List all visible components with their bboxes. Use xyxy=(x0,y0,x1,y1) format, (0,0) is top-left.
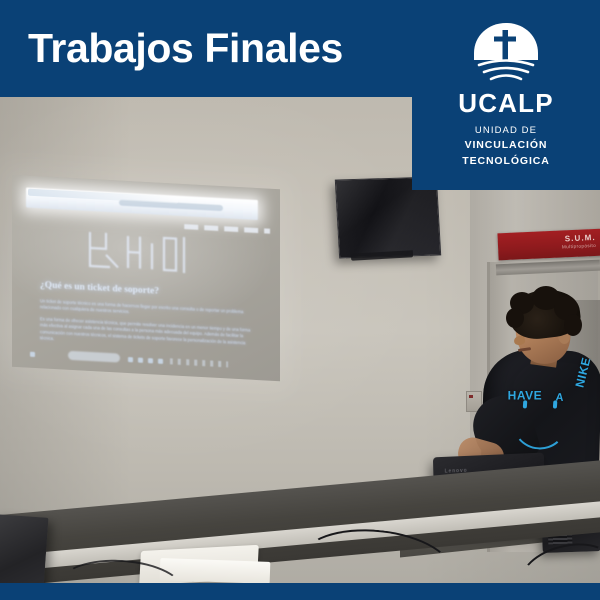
sum-sign-main-text: S.U.M. xyxy=(565,233,596,243)
student-hair-curl xyxy=(564,314,582,336)
taskbar-app-icon xyxy=(128,357,133,362)
smiley-eye-right xyxy=(553,400,558,408)
smiley-eye-left xyxy=(523,400,528,408)
projection-screen: ¿Qué es un ticket de soporte? Un ticket … xyxy=(12,175,280,382)
footer-bar xyxy=(0,583,600,600)
taskbar-app-icon xyxy=(138,358,143,363)
logo-subtitle-line-2: VINCULACIÓN xyxy=(465,139,548,153)
sum-room-sign: S.U.M. Multipropósito xyxy=(497,229,600,261)
secondary-monitor xyxy=(0,514,48,589)
logo-subtitle-line-1: UNIDAD DE xyxy=(475,125,537,137)
taskbar-app-icon xyxy=(148,358,153,363)
smiley-mouth-graphic xyxy=(510,404,569,452)
taskbar-system-tray xyxy=(170,358,228,367)
taskbar-app-icon xyxy=(158,359,163,364)
sum-sign-sub-text: Multipropósito xyxy=(562,243,596,250)
page-title: Trabajos Finales xyxy=(28,28,343,69)
ucalp-dome-cross-waves-logo xyxy=(469,22,543,84)
logo-wordmark: UCALP xyxy=(458,90,554,116)
nike-shirt-graphic: HAVE A NIKE xyxy=(500,385,596,455)
student-hair-curl xyxy=(506,308,524,328)
projected-site-logo xyxy=(84,226,204,280)
poster-canvas: S.U.M. Multipropósito xyxy=(0,0,600,600)
logo-subtitle-line-3: TECNOLÓGICA xyxy=(462,155,549,169)
logo-panel: UCALP UNIDAD DE VINCULACIÓN TECNOLÓGICA xyxy=(412,0,600,190)
taskbar-start-icon xyxy=(30,352,35,357)
taskbar-search-box xyxy=(68,351,120,363)
wall-outlet-led xyxy=(469,395,473,398)
